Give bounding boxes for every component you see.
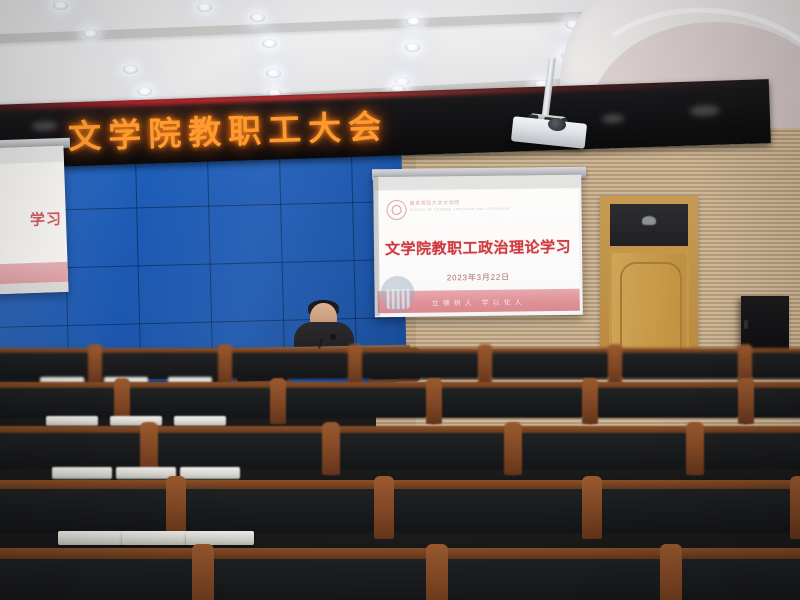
desk-tablet [174,416,226,426]
bench-post-row2 [275,378,286,424]
bench-seatback-row4[interactable] [178,489,376,533]
bench-post-row4 [587,476,602,539]
screen-top-strip [373,175,581,191]
bench-post-row3 [509,422,522,475]
bench-seatback-row1[interactable] [490,353,610,379]
bench-seatback-row2[interactable] [126,388,272,418]
bench-post-row1 [353,344,362,385]
bench-post-row1 [483,344,492,385]
ceiling-downlight-1 [53,1,68,10]
bench-seatback-row1[interactable] [0,353,90,379]
bench-seatback-row5[interactable] [438,559,662,600]
left-projection-screen: 学习 [0,146,69,296]
slide-title: 文学院教职工政治理论学习 [377,236,579,259]
bench-seatback-row3[interactable] [698,433,800,469]
bench-post-row1 [613,344,622,385]
bench-seatback-row3[interactable] [516,433,688,469]
desk-tablet [122,531,190,545]
projection-screen: 南京师范大学文学院 SCHOOL OF CHINESE LANGUAGE AND… [373,175,583,318]
bench-post-row5 [665,544,682,600]
bench-seatback-row4[interactable] [594,489,792,533]
audience-area [0,330,800,600]
bench-post-row2 [587,378,598,424]
bench-seatback-row2[interactable] [594,388,740,418]
bench-seatback-row4[interactable] [386,489,584,533]
bench-seatback-row5[interactable] [0,559,194,600]
led-banner-text: 文学院教职工大会 [67,100,388,159]
door-transom-window [610,204,688,246]
bench-seatback-row1[interactable] [100,353,220,379]
bench-post-row3 [327,422,340,475]
bench-seatback-row2[interactable] [750,388,800,418]
desk-tablet [186,531,254,545]
left-slide-title: 学习 [30,208,63,230]
presentation-slide: 南京师范大学文学院 SCHOOL OF CHINESE LANGUAGE AND… [376,189,579,315]
ceiling-downlight-6 [250,13,265,22]
university-seal-icon [386,200,406,220]
bench-post-row2 [743,378,754,424]
bench-post-row5 [431,544,448,600]
desk-tablet [46,416,98,426]
bench-seatback-row4[interactable] [0,489,168,533]
bench-seatback-row3[interactable] [152,433,324,469]
ceiling-downlight-5 [197,3,212,12]
bench-seatback-row2[interactable] [438,388,584,418]
bench-seatback-row1[interactable] [620,353,740,379]
bench-post-row1 [93,344,102,385]
bench-seatback-row5[interactable] [672,559,800,600]
bench-post-row4 [379,476,394,539]
bench-seatback-row3[interactable] [334,433,506,469]
bench-seatback-row3[interactable] [0,433,142,469]
bench-post-row1 [223,344,232,385]
bench-post-row5 [197,544,214,600]
lecture-hall-photo: 文学院教职工大会 南京师范大学文学院 SCHOOL OF CHINESE LAN… [0,0,800,600]
university-logo-subtext: SCHOOL OF CHINESE LANGUAGE AND LITERATUR… [410,207,511,212]
bench-seatback-row5[interactable] [204,559,428,600]
desk-tablet [180,467,240,479]
bench-post-row4 [171,476,186,539]
bench-seatback-row1[interactable] [750,353,800,379]
bench-seatback-row2[interactable] [0,388,116,418]
desk-tablet [58,531,126,545]
desk-tablet [52,467,112,479]
bench-post-row2 [431,378,442,424]
bench-seatback-row2[interactable] [282,388,428,418]
bench-post-row3 [691,422,704,475]
left-screen-top-strip [0,146,64,166]
bench-seatback-row1[interactable] [360,353,480,379]
bench-post-row4 [795,476,800,539]
university-logo-text: 南京师范大学文学院 [409,200,459,207]
bench-seatback-row1[interactable] [230,353,350,379]
